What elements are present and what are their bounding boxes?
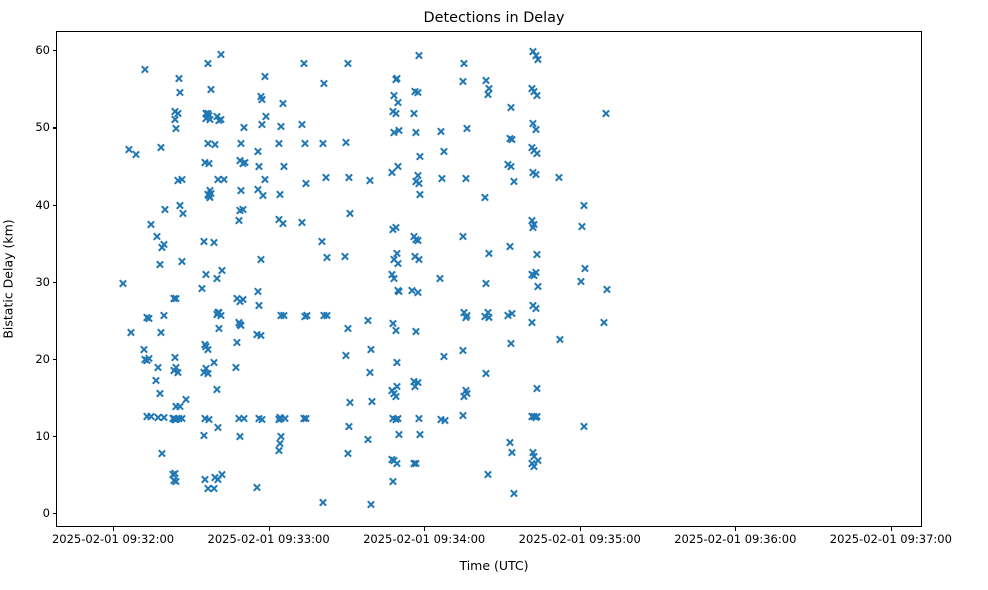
data-point xyxy=(279,162,288,171)
x-tick-mark xyxy=(735,527,736,531)
data-point xyxy=(320,79,329,88)
data-point xyxy=(257,120,266,129)
x-tick-label: 2025-02-01 09:33:00 xyxy=(208,532,330,546)
data-point xyxy=(458,411,467,420)
data-point xyxy=(156,143,165,152)
data-point xyxy=(235,320,244,329)
x-tick-label: 2025-02-01 09:35:00 xyxy=(519,532,641,546)
data-point xyxy=(460,59,469,68)
data-point xyxy=(530,452,539,461)
data-point xyxy=(274,415,283,424)
data-point xyxy=(364,435,373,444)
data-point xyxy=(480,312,489,321)
data-point xyxy=(504,311,513,320)
data-point xyxy=(340,252,349,261)
data-point xyxy=(172,363,181,372)
data-point xyxy=(261,112,270,121)
data-point xyxy=(274,215,283,224)
data-point xyxy=(205,193,214,202)
data-point xyxy=(318,498,327,507)
data-point xyxy=(528,301,537,310)
data-point xyxy=(199,237,208,246)
data-point xyxy=(461,386,470,395)
data-point xyxy=(458,346,467,355)
data-point xyxy=(409,459,418,468)
data-point xyxy=(173,176,182,185)
data-point xyxy=(532,412,541,421)
data-point xyxy=(393,259,402,268)
data-point xyxy=(177,175,186,184)
data-point xyxy=(132,150,141,159)
data-point xyxy=(460,392,469,401)
data-point xyxy=(484,84,493,93)
data-point xyxy=(365,368,374,377)
data-point xyxy=(506,162,515,171)
data-point xyxy=(368,397,377,406)
data-point xyxy=(391,109,400,118)
data-point xyxy=(366,500,375,509)
data-point xyxy=(170,415,179,424)
data-point xyxy=(209,238,218,247)
x-tick-label: 2025-02-01 09:36:00 xyxy=(674,532,796,546)
y-tick-mark xyxy=(53,282,57,283)
data-point xyxy=(527,143,536,152)
data-point xyxy=(342,351,351,360)
data-point xyxy=(235,206,244,215)
data-point xyxy=(252,330,261,339)
data-point xyxy=(462,389,471,398)
data-point xyxy=(387,270,396,279)
data-point xyxy=(259,191,268,200)
data-point xyxy=(462,311,471,320)
data-point xyxy=(279,311,288,320)
data-point xyxy=(209,484,218,493)
data-point xyxy=(119,279,128,288)
data-point xyxy=(392,382,401,391)
data-point xyxy=(527,216,536,225)
data-point xyxy=(203,190,212,199)
data-point xyxy=(506,103,515,112)
matplotlib-figure: Detections in Delay Bistatic Delay (km) … xyxy=(0,0,988,590)
data-point xyxy=(388,107,397,116)
data-point xyxy=(527,318,536,327)
data-point xyxy=(199,368,208,377)
data-point xyxy=(412,459,421,468)
data-point xyxy=(172,477,181,486)
data-point xyxy=(142,412,151,421)
data-point xyxy=(480,193,489,202)
data-point xyxy=(298,218,307,227)
data-point xyxy=(202,270,211,279)
data-point xyxy=(300,312,309,321)
y-tick-label: 50 xyxy=(35,120,50,134)
data-point xyxy=(215,116,224,125)
data-point xyxy=(527,84,536,93)
data-point xyxy=(440,416,449,425)
x-tick-mark xyxy=(113,527,114,531)
data-point xyxy=(506,339,515,348)
data-point xyxy=(169,476,178,485)
data-point xyxy=(172,124,181,133)
data-point xyxy=(415,190,424,199)
data-point xyxy=(281,414,290,423)
data-point xyxy=(158,243,167,252)
data-point xyxy=(395,287,404,296)
data-point xyxy=(176,88,185,97)
data-point xyxy=(172,415,181,424)
y-tick-label: 40 xyxy=(35,198,50,212)
data-point xyxy=(388,225,397,234)
data-point xyxy=(484,313,493,322)
data-point xyxy=(528,168,537,177)
data-point xyxy=(390,128,399,137)
data-point xyxy=(170,353,179,362)
data-point xyxy=(414,414,423,423)
data-point xyxy=(256,92,265,101)
data-point xyxy=(395,126,404,135)
data-point xyxy=(528,119,537,128)
data-point xyxy=(255,414,264,423)
data-point xyxy=(202,342,211,351)
data-point xyxy=(142,356,151,365)
data-point xyxy=(202,114,211,123)
y-tick-mark xyxy=(53,127,57,128)
y-tick-mark xyxy=(53,436,57,437)
data-point xyxy=(142,313,151,322)
y-axis-label: Bistatic Delay (km) xyxy=(1,219,16,338)
x-tick-mark xyxy=(424,527,425,531)
data-point xyxy=(345,209,354,218)
data-point xyxy=(146,220,155,229)
data-point xyxy=(390,255,399,264)
data-point xyxy=(160,205,169,214)
data-point xyxy=(439,147,448,156)
data-point xyxy=(174,414,183,423)
data-point xyxy=(554,173,563,182)
data-point xyxy=(274,139,283,148)
x-tick-label: 2025-02-01 09:32:00 xyxy=(52,532,174,546)
y-tick-label: 0 xyxy=(43,506,50,520)
data-point xyxy=(168,470,177,479)
data-point xyxy=(530,271,539,280)
data-point xyxy=(601,109,610,118)
data-point xyxy=(533,456,542,465)
data-point xyxy=(231,363,240,372)
data-point xyxy=(158,449,167,458)
data-point xyxy=(213,423,222,432)
data-point xyxy=(275,190,284,199)
data-point xyxy=(527,459,536,468)
data-point xyxy=(217,470,226,479)
y-tick-label: 60 xyxy=(35,43,50,57)
data-point xyxy=(209,358,218,367)
data-point xyxy=(238,159,247,168)
data-point xyxy=(299,414,308,423)
data-point xyxy=(203,109,212,118)
data-point xyxy=(159,311,168,320)
data-point xyxy=(483,90,492,99)
data-point xyxy=(203,139,212,148)
data-point xyxy=(413,378,422,387)
data-point xyxy=(393,286,402,295)
data-point xyxy=(320,311,329,320)
data-point xyxy=(198,284,207,293)
data-point xyxy=(322,253,331,262)
data-point xyxy=(200,414,209,423)
data-point xyxy=(207,189,216,198)
data-point xyxy=(528,448,537,457)
data-point xyxy=(213,308,222,317)
data-point xyxy=(146,412,155,421)
data-point xyxy=(172,402,181,411)
data-point xyxy=(300,139,309,148)
data-point xyxy=(169,366,178,375)
data-point xyxy=(387,386,396,395)
data-point xyxy=(212,310,221,319)
data-point xyxy=(531,51,540,60)
data-point xyxy=(301,179,310,188)
data-point xyxy=(278,99,287,108)
data-point xyxy=(412,235,421,244)
data-point xyxy=(509,177,518,186)
data-point xyxy=(159,413,168,422)
data-point xyxy=(342,138,351,147)
data-point xyxy=(392,249,401,258)
x-tick-mark xyxy=(580,527,581,531)
data-point xyxy=(299,59,308,68)
data-point xyxy=(275,439,284,448)
data-point xyxy=(255,301,264,310)
data-point xyxy=(530,87,539,96)
data-point xyxy=(388,477,397,486)
data-point xyxy=(413,171,422,180)
data-point xyxy=(235,297,244,306)
data-point xyxy=(387,455,396,464)
x-tick-mark xyxy=(269,527,270,531)
data-point xyxy=(298,120,307,129)
data-point xyxy=(301,414,310,423)
data-point xyxy=(239,123,248,132)
data-point xyxy=(344,422,353,431)
data-point xyxy=(155,260,164,269)
data-point xyxy=(415,430,424,439)
data-point xyxy=(199,431,208,440)
data-point xyxy=(177,257,186,266)
data-point xyxy=(345,398,354,407)
data-point xyxy=(255,162,264,171)
data-point xyxy=(238,295,247,304)
data-point xyxy=(391,326,400,335)
data-point xyxy=(235,432,244,441)
data-point xyxy=(505,134,514,143)
data-point xyxy=(409,109,418,118)
x-axis-label: Time (UTC) xyxy=(0,558,988,573)
data-point xyxy=(410,87,419,96)
data-point xyxy=(200,158,209,167)
data-point xyxy=(216,115,225,124)
data-point xyxy=(532,91,541,100)
data-point xyxy=(124,145,133,154)
data-point xyxy=(530,220,539,229)
data-point xyxy=(181,395,190,404)
y-tick-label: 20 xyxy=(35,352,50,366)
data-point xyxy=(215,308,224,317)
data-point xyxy=(257,415,266,424)
data-point xyxy=(233,338,242,347)
data-point xyxy=(154,413,163,422)
data-point xyxy=(461,313,470,322)
data-point xyxy=(366,345,375,354)
data-point xyxy=(277,414,286,423)
data-point xyxy=(504,160,513,169)
data-point xyxy=(391,223,400,232)
data-point xyxy=(602,285,611,294)
data-point xyxy=(257,95,266,104)
data-point xyxy=(237,139,246,148)
data-point xyxy=(532,149,541,158)
y-tick-mark xyxy=(53,359,57,360)
data-point xyxy=(414,255,423,264)
data-point xyxy=(253,185,262,194)
data-point xyxy=(531,413,540,422)
data-point xyxy=(274,446,283,455)
chart-title: Detections in Delay xyxy=(0,10,988,26)
data-point xyxy=(530,146,539,155)
data-point xyxy=(528,223,537,232)
data-point xyxy=(217,266,226,275)
data-point xyxy=(303,311,312,320)
data-point xyxy=(413,236,422,245)
data-point xyxy=(213,175,222,184)
data-point xyxy=(237,321,246,330)
data-point xyxy=(151,376,160,385)
data-point xyxy=(530,462,539,471)
data-point xyxy=(155,389,164,398)
data-point xyxy=(141,355,150,364)
data-point xyxy=(212,385,221,394)
plot-area xyxy=(56,31,922,527)
data-point xyxy=(237,186,246,195)
data-point xyxy=(482,369,491,378)
data-point xyxy=(410,382,419,391)
data-point xyxy=(556,335,565,344)
data-point xyxy=(126,328,135,337)
data-point xyxy=(156,328,165,337)
data-point xyxy=(484,249,493,258)
data-point xyxy=(253,287,262,296)
data-point xyxy=(412,327,421,336)
data-point xyxy=(200,340,209,349)
data-point xyxy=(277,311,286,320)
data-point xyxy=(321,173,330,182)
data-point xyxy=(436,415,445,424)
data-point xyxy=(409,232,418,241)
data-point xyxy=(531,268,540,277)
data-point xyxy=(176,402,185,411)
data-point xyxy=(278,219,287,228)
data-point xyxy=(234,216,243,225)
data-point xyxy=(365,176,374,185)
data-point xyxy=(178,209,187,218)
data-point xyxy=(203,59,212,68)
data-point xyxy=(204,111,213,120)
data-point xyxy=(203,369,212,378)
data-point xyxy=(200,475,209,484)
data-point xyxy=(391,75,400,84)
data-point xyxy=(388,319,397,328)
data-point xyxy=(275,413,284,422)
data-point xyxy=(173,109,182,118)
data-point xyxy=(576,277,585,286)
data-point xyxy=(213,475,222,484)
data-point xyxy=(508,135,517,144)
data-point xyxy=(277,432,286,441)
x-tick-mark xyxy=(891,527,892,531)
data-point xyxy=(414,51,423,60)
data-point xyxy=(204,415,213,424)
data-point xyxy=(580,264,589,273)
y-tick-mark xyxy=(53,50,57,51)
data-point xyxy=(277,122,286,131)
data-point xyxy=(203,484,212,493)
y-tick-mark xyxy=(53,205,57,206)
data-point xyxy=(176,201,185,210)
data-point xyxy=(145,314,154,323)
data-point xyxy=(390,91,399,100)
data-point xyxy=(343,59,352,68)
data-point xyxy=(233,294,242,303)
data-point xyxy=(393,414,402,423)
data-point xyxy=(458,232,467,241)
data-point xyxy=(159,240,168,249)
data-point xyxy=(391,392,400,401)
data-point xyxy=(239,414,248,423)
y-tick-label: 10 xyxy=(35,429,50,443)
data-point xyxy=(410,252,419,261)
data-point xyxy=(343,324,352,333)
data-point xyxy=(391,415,400,424)
data-point xyxy=(409,377,418,386)
data-point xyxy=(532,250,541,259)
data-point xyxy=(211,140,220,149)
data-point xyxy=(154,363,163,372)
data-point xyxy=(578,222,587,231)
data-point xyxy=(392,358,401,367)
data-point xyxy=(435,274,444,283)
data-point xyxy=(393,162,402,171)
data-point xyxy=(173,368,182,377)
data-point xyxy=(392,74,401,83)
data-point xyxy=(482,76,491,85)
data-point xyxy=(532,384,541,393)
data-point xyxy=(579,201,588,210)
data-point xyxy=(483,308,492,317)
data-point xyxy=(238,205,247,214)
data-point xyxy=(413,88,422,97)
data-point xyxy=(579,422,588,431)
data-point xyxy=(508,309,517,318)
y-tick-label: 30 xyxy=(35,275,50,289)
data-point xyxy=(220,175,229,184)
data-point xyxy=(364,316,373,325)
data-point xyxy=(436,127,445,136)
data-point xyxy=(207,85,216,94)
data-point xyxy=(531,304,540,313)
data-point xyxy=(390,456,399,465)
data-point xyxy=(482,279,491,288)
data-point xyxy=(215,324,224,333)
data-point xyxy=(168,414,177,423)
